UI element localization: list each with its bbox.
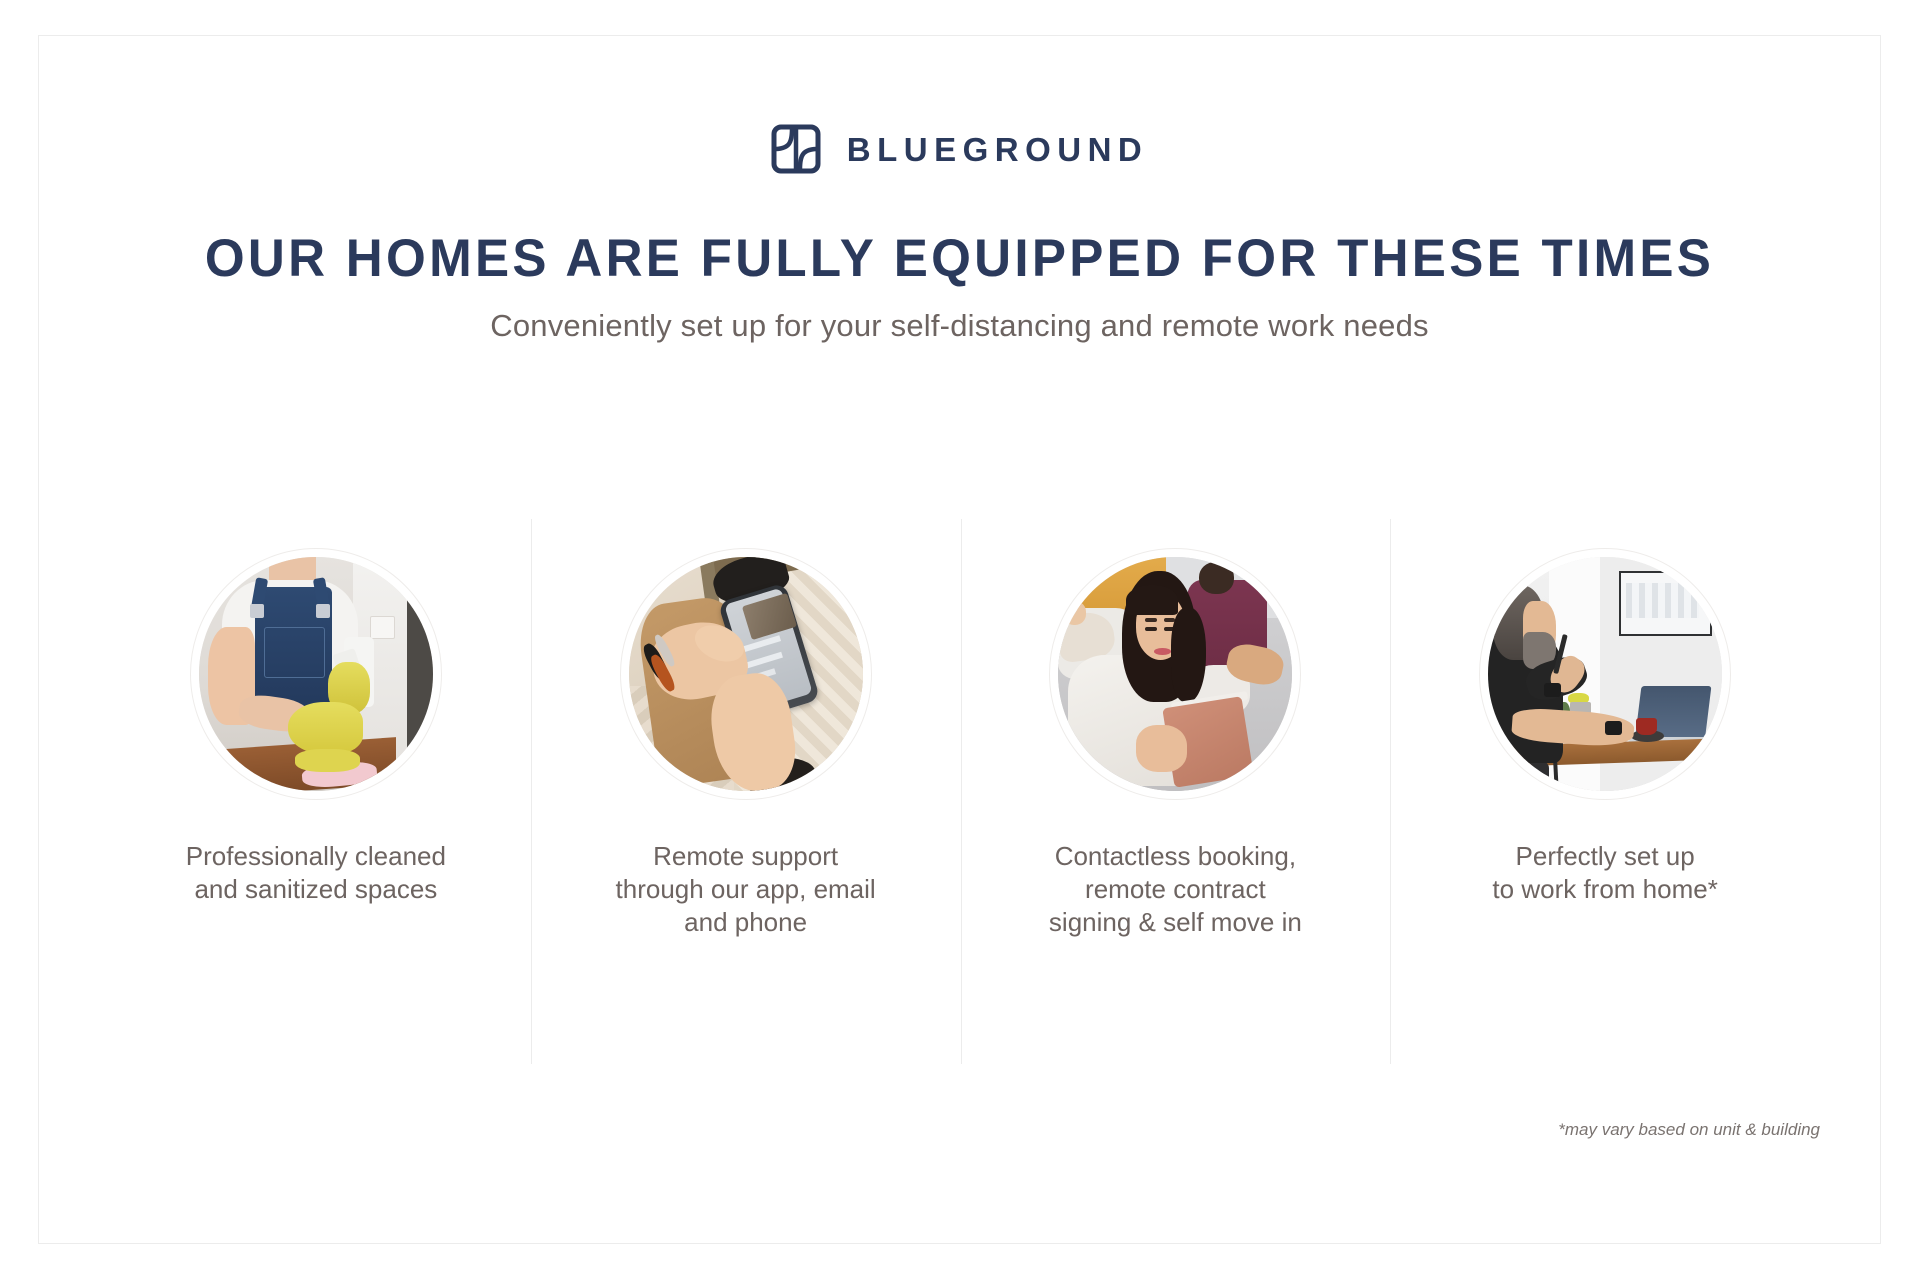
- page-subtitle: Conveniently set up for your self-distan…: [39, 308, 1880, 344]
- feature-column-work-from-home: Perfectly set up to work from home*: [1390, 519, 1820, 1064]
- feature-caption: Contactless booking, remote contract sig…: [1049, 840, 1302, 939]
- brand-logo: BLUEGROUND: [39, 124, 1880, 174]
- work-from-home-photo-frame: [1479, 548, 1731, 800]
- tablet-booking-photo-icon: [1058, 557, 1292, 791]
- feature-caption: Remote support through our app, email an…: [616, 840, 876, 939]
- phone-support-photo-frame: [620, 548, 872, 800]
- phone-support-photo-icon: [629, 557, 863, 791]
- brand-wordmark: BLUEGROUND: [847, 133, 1149, 166]
- feature-caption: Perfectly set up to work from home*: [1492, 840, 1717, 906]
- cleaning-photo-frame: [190, 548, 442, 800]
- feature-column-cleaning: Professionally cleaned and sanitized spa…: [101, 519, 531, 1064]
- page-title: OUR HOMES ARE FULLY EQUIPPED FOR THESE T…: [71, 228, 1848, 289]
- feature-column-contactless-booking: Contactless booking, remote contract sig…: [961, 519, 1391, 1064]
- poster-card: BLUEGROUND OUR HOMES ARE FULLY EQUIPPED …: [38, 35, 1881, 1244]
- blueground-square-logo-icon: [771, 124, 821, 174]
- tablet-booking-photo-frame: [1049, 548, 1301, 800]
- feature-caption: Professionally cleaned and sanitized spa…: [186, 840, 446, 906]
- footnote-disclaimer: *may vary based on unit & building: [1558, 1120, 1820, 1140]
- feature-column-remote-support: Remote support through our app, email an…: [531, 519, 961, 1064]
- cleaning-photo-icon: [199, 557, 433, 791]
- feature-columns: Professionally cleaned and sanitized spa…: [101, 519, 1820, 1064]
- work-from-home-photo-icon: [1488, 557, 1722, 791]
